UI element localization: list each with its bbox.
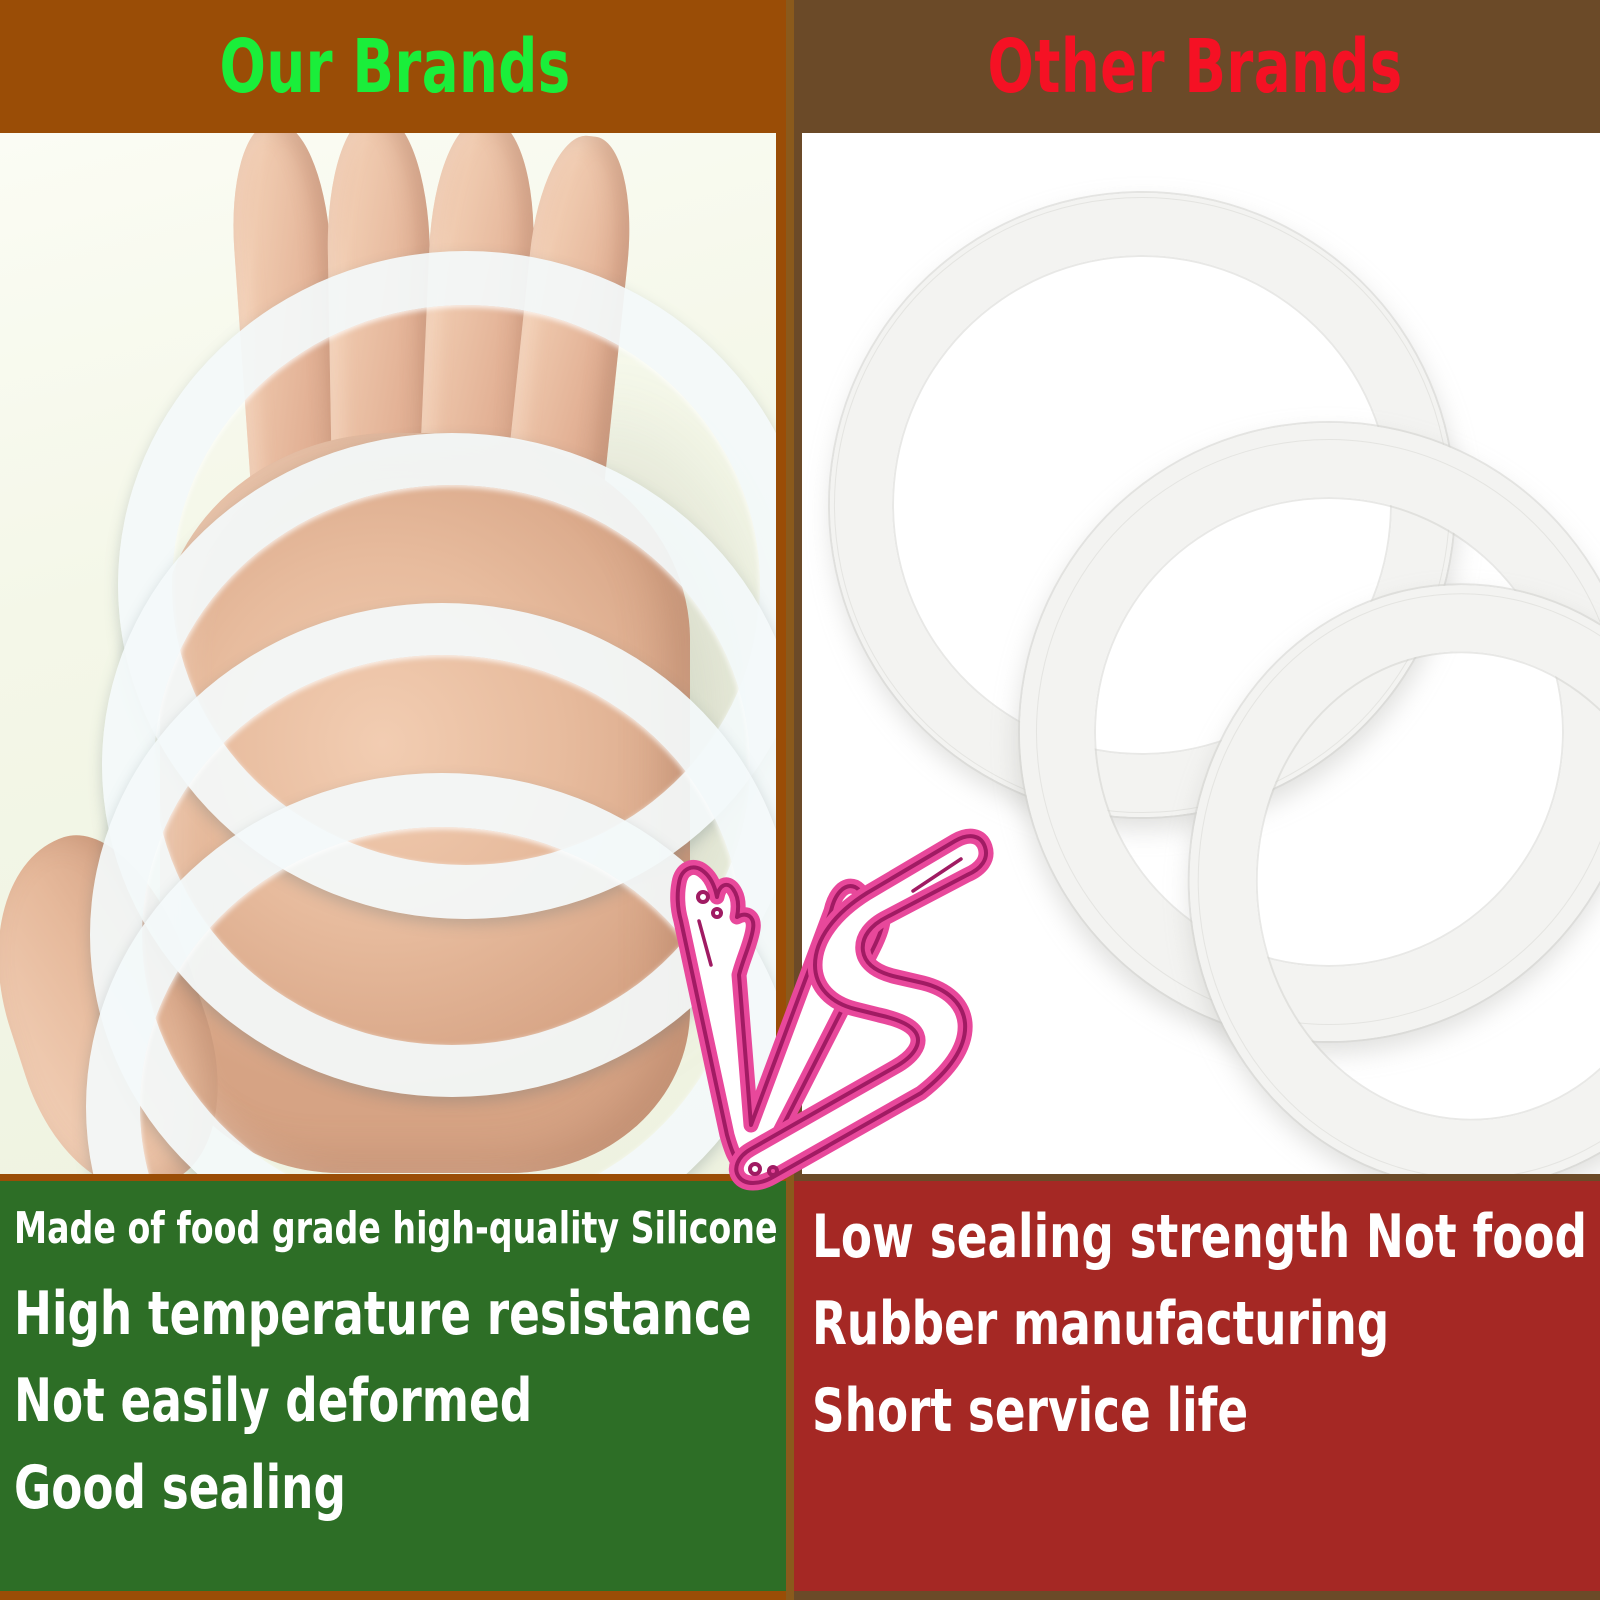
feature-item: Rubber manufacturing — [812, 1294, 1462, 1355]
other-brands-feature-list: Low sealing strength Not food grade Rubb… — [790, 1181, 1600, 1469]
our-brands-product-photo — [0, 133, 776, 1174]
other-brands-product-photo — [802, 133, 1600, 1174]
our-brands-feature-list: Made of food grade high-quality Silicone… — [0, 1181, 790, 1545]
other-brands-features-panel: Low sealing strength Not food grade Rubb… — [790, 1174, 1600, 1600]
hand-holding-rings — [10, 133, 750, 1174]
comparison-infographic: Our Brands Other Brands — [0, 0, 1600, 1600]
feature-item: High temperature resistance — [14, 1284, 654, 1345]
feature-item: Short service life — [812, 1381, 1462, 1442]
feature-item: Made of food grade high-quality Silicone… — [14, 1207, 654, 1252]
our-brands-photo-frame — [0, 133, 790, 1174]
our-brands-title: Our Brands — [219, 30, 570, 104]
feature-item: Low sealing strength Not food grade — [812, 1207, 1462, 1268]
header-other-brands: Other Brands — [790, 0, 1600, 133]
header-our-brands: Our Brands — [0, 0, 790, 133]
feature-item: Good sealing — [14, 1458, 654, 1519]
other-brands-photo-frame — [790, 133, 1600, 1174]
panel-divider — [786, 0, 794, 1600]
feature-item: Not easily deformed — [14, 1371, 654, 1432]
other-brands-title: Other Brands — [987, 30, 1402, 104]
our-brands-features-panel: Made of food grade high-quality Silicone… — [0, 1174, 790, 1600]
